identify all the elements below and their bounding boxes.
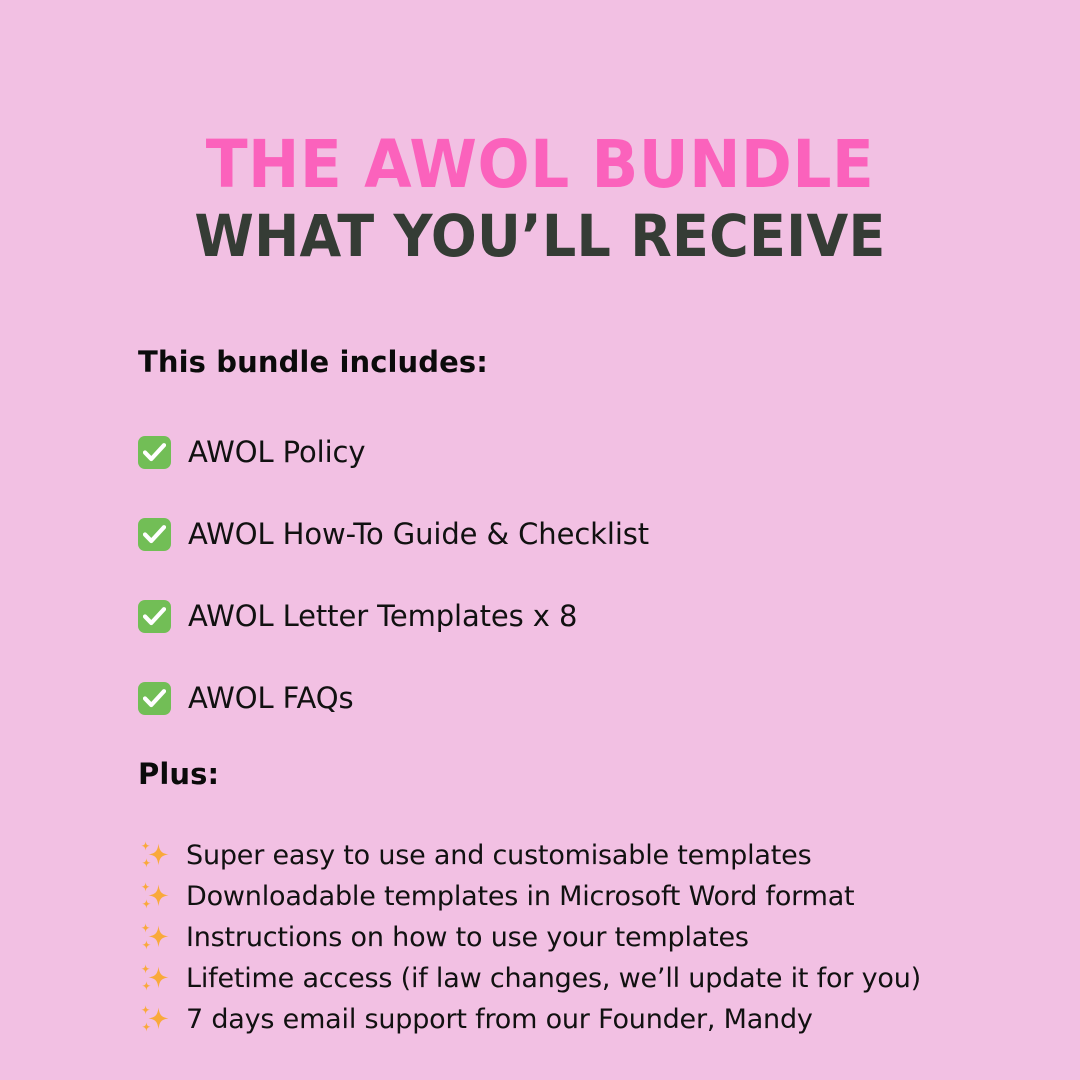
list-item-label: AWOL How-To Guide & Checklist: [188, 520, 649, 549]
list-item-label: AWOL FAQs: [188, 684, 354, 713]
check-mark-icon: [138, 518, 171, 551]
sparkles-icon: [138, 1002, 172, 1036]
list-item: Instructions on how to use your template…: [138, 917, 1018, 958]
list-item-label: AWOL Policy: [188, 438, 365, 467]
list-item: Lifetime access (if law changes, we’ll u…: [138, 958, 1018, 999]
content-body: This bundle includes: AWOL Policy AWOL H…: [138, 345, 1018, 1040]
list-item: AWOL Letter Templates x 8: [138, 593, 1018, 639]
sparkles-icon: [138, 961, 172, 995]
plus-heading: Plus:: [138, 757, 1018, 791]
check-mark-icon: [138, 682, 171, 715]
list-item-label: Downloadable templates in Microsoft Word…: [186, 883, 854, 910]
list-item: 7 days email support from our Founder, M…: [138, 999, 1018, 1040]
list-item: Super easy to use and customisable templ…: [138, 835, 1018, 876]
list-item-label: Lifetime access (if law changes, we’ll u…: [186, 965, 921, 992]
list-item-label: 7 days email support from our Founder, M…: [186, 1006, 813, 1033]
sparkles-icon: [138, 920, 172, 954]
page-title-primary: THE AWOL BUNDLE: [38, 132, 1042, 198]
promo-slide: THE AWOL BUNDLE WHAT YOU’LL RECEIVE This…: [0, 0, 1080, 1080]
list-item: AWOL How-To Guide & Checklist: [138, 511, 1018, 557]
includes-list: AWOL Policy AWOL How-To Guide & Checklis…: [138, 429, 1018, 721]
title-block: THE AWOL BUNDLE WHAT YOU’LL RECEIVE: [0, 132, 1080, 267]
check-mark-icon: [138, 436, 171, 469]
list-item-label: Super easy to use and customisable templ…: [186, 842, 811, 869]
list-item: Downloadable templates in Microsoft Word…: [138, 876, 1018, 917]
list-item-label: Instructions on how to use your template…: [186, 924, 749, 951]
includes-heading: This bundle includes:: [138, 345, 1018, 379]
page-title-secondary: WHAT YOU’LL RECEIVE: [38, 206, 1042, 267]
list-item: AWOL Policy: [138, 429, 1018, 475]
check-mark-icon: [138, 600, 171, 633]
plus-list: Super easy to use and customisable templ…: [138, 835, 1018, 1040]
sparkles-icon: [138, 879, 172, 913]
sparkles-icon: [138, 838, 172, 872]
list-item-label: AWOL Letter Templates x 8: [188, 602, 577, 631]
list-item: AWOL FAQs: [138, 675, 1018, 721]
